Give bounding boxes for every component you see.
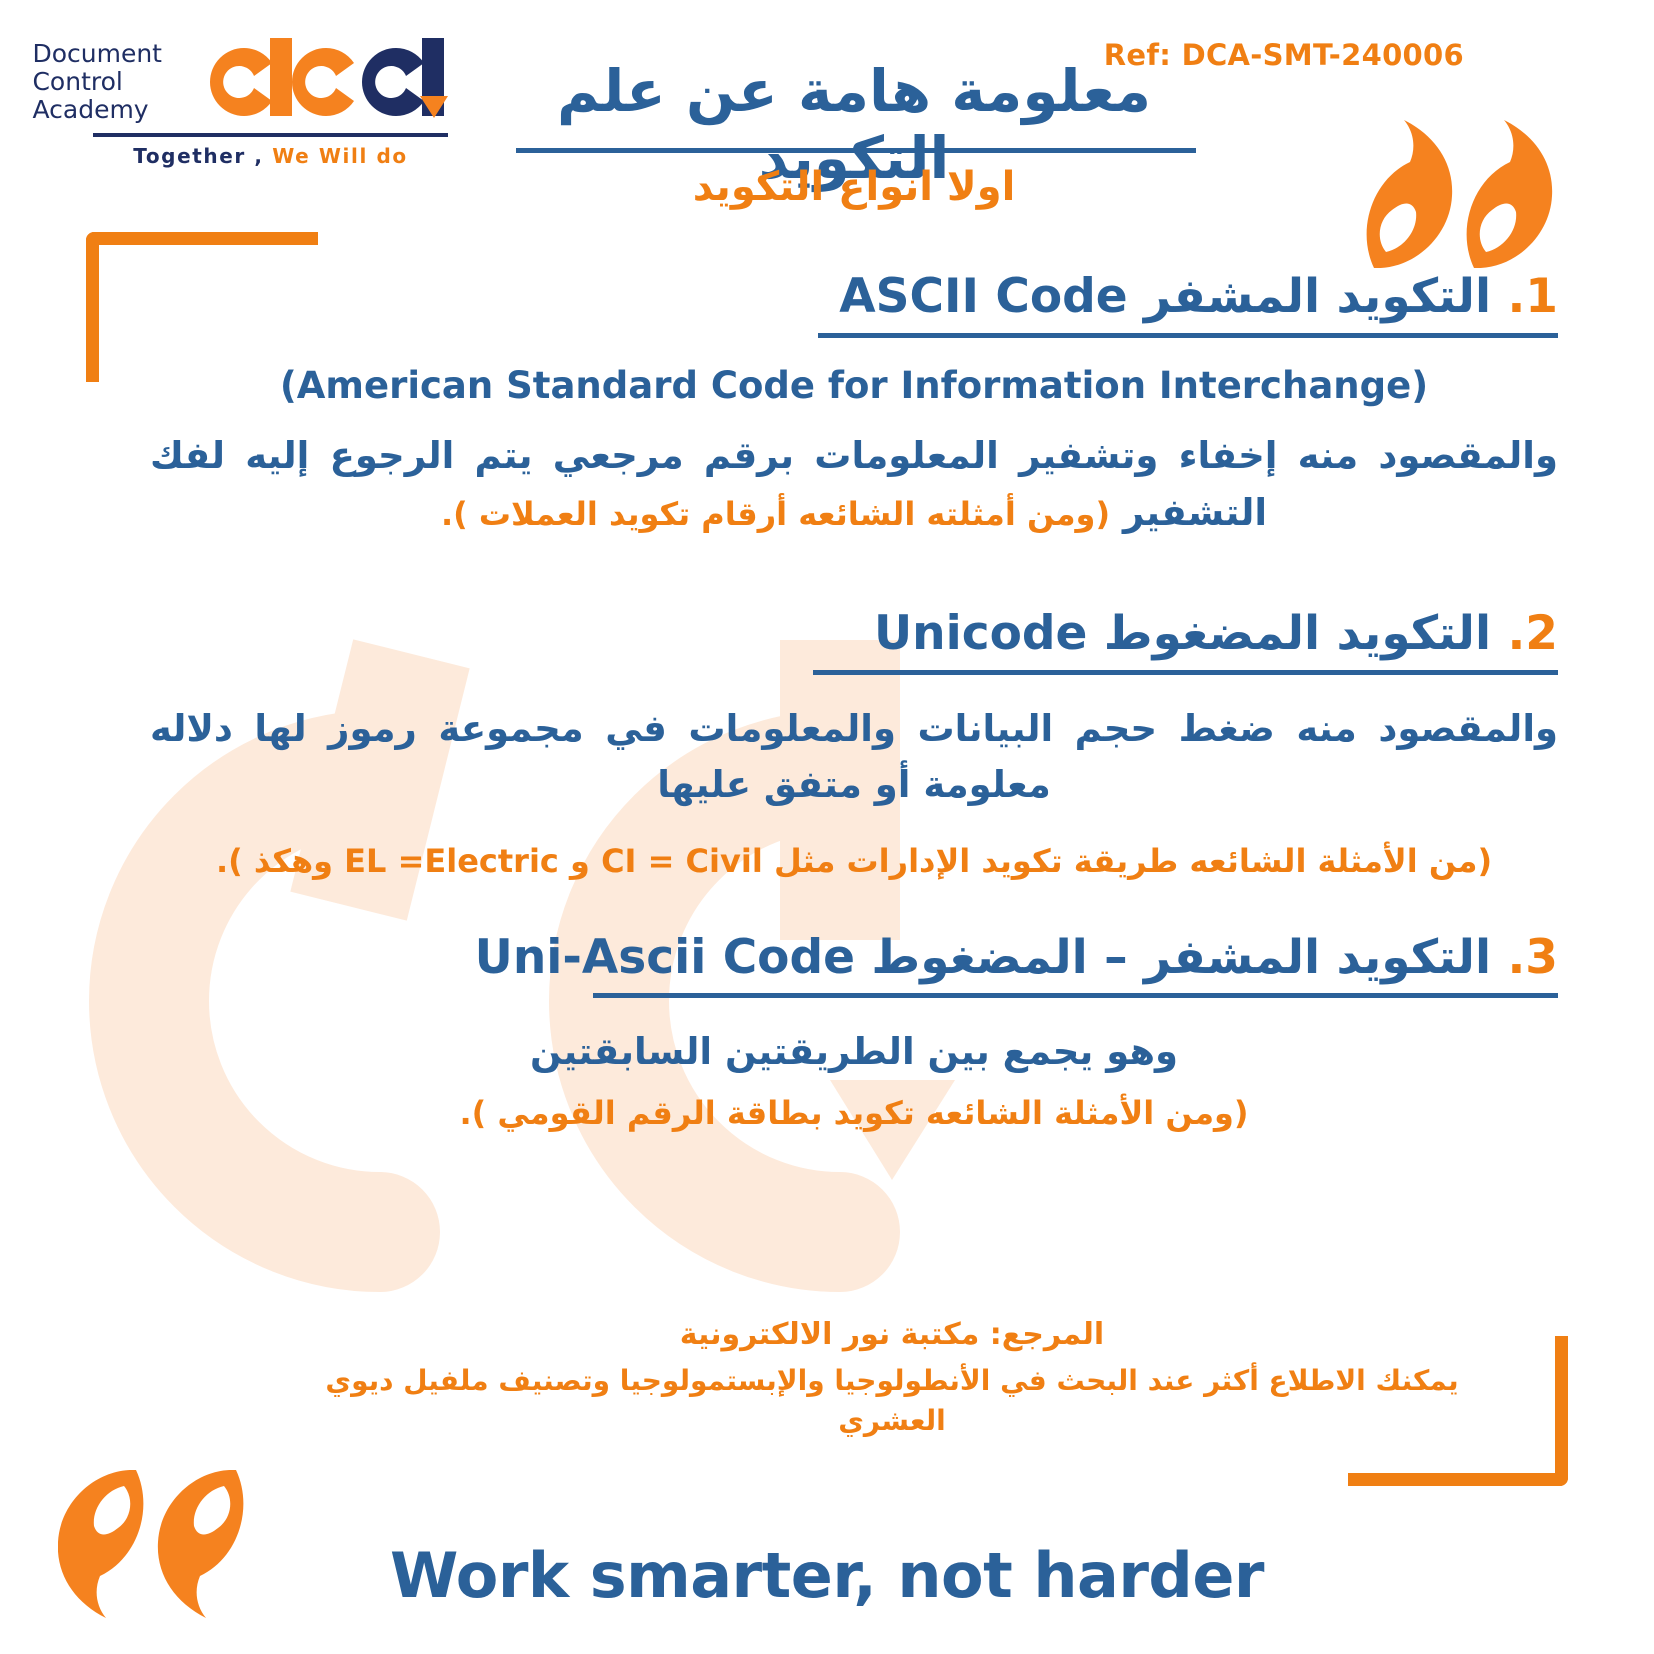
dca-logo-icon <box>198 36 448 128</box>
section-1-heading-ar: التكويد المشفر <box>1144 269 1491 324</box>
page-subtitle: اولا انواع التكويد <box>494 164 1214 210</box>
logo-tagline: Together , We Will do <box>93 144 448 168</box>
logo-word-control: Control <box>32 68 162 96</box>
section-3-heading: 3. التكويد المشفر – المضغوط Uni-Ascii Co… <box>150 929 1558 992</box>
quotation-mark-icon-top-right <box>1364 118 1564 268</box>
footer-reference: المرجع: مكتبة نور الالكترونية <box>280 1313 1504 1357</box>
footer-more-info: يمكنك الاطلاع أكثر عند البحث في الأنطولو… <box>280 1361 1504 1442</box>
page-title-underline <box>516 148 1196 153</box>
section-3-note: (ومن الأمثلة الشائعه تكويد بطاقة الرقم ا… <box>150 1090 1558 1136</box>
section-1-body: والمقصود منه إخفاء وتشفير المعلومات برقم… <box>150 427 1558 542</box>
section-1-underline <box>818 333 1558 338</box>
section-1-number: 1. <box>1507 269 1558 324</box>
poster-canvas: Document Control Academy Together , We W… <box>0 0 1654 1654</box>
section-2-underline <box>813 670 1558 675</box>
section-2-number: 2. <box>1507 606 1558 661</box>
section-2-note: (من الأمثلة الشائعه طريقة تكويد الإدارات… <box>150 838 1558 884</box>
section-2-heading-ar: التكويد المضغوط <box>1104 606 1491 661</box>
brand-logo: Document Control Academy Together , We W… <box>58 36 448 168</box>
logo-word-academy: Academy <box>32 96 162 124</box>
footer-block: المرجع: مكتبة نور الالكترونية يمكنك الاط… <box>280 1313 1504 1442</box>
section-2-body: والمقصود منه ضغط حجم البيانات والمعلومات… <box>150 701 1558 812</box>
logo-wordmark: Document Control Academy <box>32 40 162 124</box>
section-1-expansion: (American Standard Code for Information … <box>150 364 1558 407</box>
spacer-2a <box>150 822 1558 838</box>
tagline-wewilldo: We Will do <box>272 144 408 168</box>
section-unicode: 2. التكويد المضغوط Unicode والمقصود منه … <box>150 605 1558 884</box>
slogan-text: Work smarter, not harder <box>0 1539 1654 1612</box>
content-body: 1. التكويد المشفر ASCII Code (American S… <box>150 268 1558 1146</box>
section-uni-ascii: 3. التكويد المشفر – المضغوط Uni-Ascii Co… <box>150 929 1558 1137</box>
section-1-note: (ومن أمثلته الشائعه أرقام تكويد العملات … <box>441 495 1110 533</box>
section-ascii: 1. التكويد المشفر ASCII Code (American S… <box>150 268 1558 541</box>
tagline-together: Together , <box>133 144 263 168</box>
section-1-heading: 1. التكويد المشفر ASCII Code <box>150 268 1558 331</box>
section-2-heading: 2. التكويد المضغوط Unicode <box>150 605 1558 668</box>
spacer-1 <box>150 551 1558 605</box>
section-3-heading-en: Uni-Ascii Code <box>475 930 855 985</box>
section-2-heading-en: Unicode <box>874 606 1087 661</box>
section-3-underline <box>593 993 1558 998</box>
section-3-body: وهو يجمع بين الطريقتين السابقتين <box>150 1024 1558 1080</box>
spacer-3 <box>150 895 1558 929</box>
logo-rule <box>93 133 448 137</box>
logo-word-document: Document <box>32 40 162 68</box>
section-1-heading-en: ASCII Code <box>839 269 1127 324</box>
section-3-heading-ar: التكويد المشفر – المضغوط <box>871 930 1491 985</box>
section-3-number: 3. <box>1507 930 1558 985</box>
